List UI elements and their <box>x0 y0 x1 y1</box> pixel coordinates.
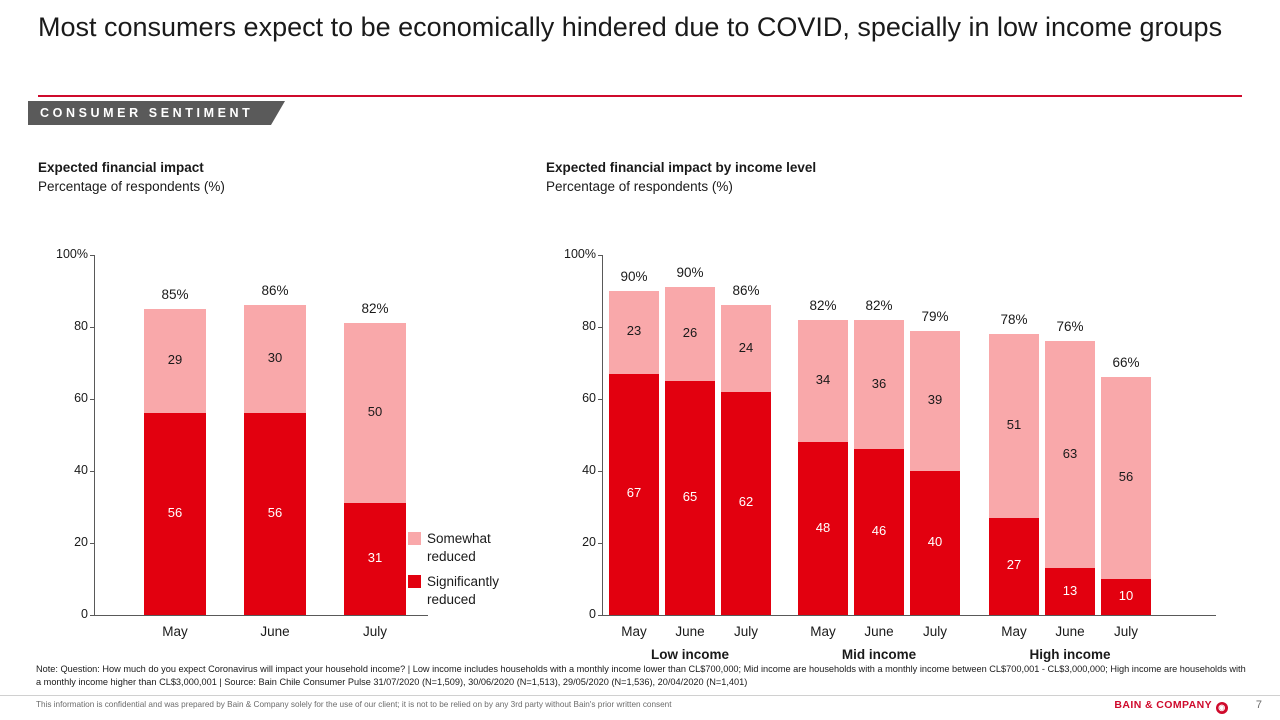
bar-segment-significantly-reduced: 40 <box>910 471 960 615</box>
bar-segment-somewhat-reduced: 26 <box>665 287 715 381</box>
y-axis-line <box>94 255 95 615</box>
y-axis-tick: 0 <box>552 607 596 621</box>
x-axis-group-label: Mid income <box>798 647 960 662</box>
legend-swatch-icon <box>408 532 421 545</box>
y-axis-tick: 40 <box>552 463 596 477</box>
y-axis-tick-mark <box>90 615 94 616</box>
bar-segment-value: 13 <box>1045 583 1095 598</box>
bar-segment-significantly-reduced: 56 <box>144 413 206 615</box>
y-axis-tick: 100% <box>44 247 88 261</box>
y-axis-tick: 20 <box>44 535 88 549</box>
y-axis-tick-mark <box>598 399 602 400</box>
bar-total-label: 82% <box>792 298 854 313</box>
x-axis-category-label: July <box>711 624 781 639</box>
x-axis-category-label: June <box>234 624 316 639</box>
bar-segment-value: 65 <box>665 489 715 504</box>
y-axis-tick: 20 <box>552 535 596 549</box>
left-chart-title: Expected financial impact <box>38 160 225 175</box>
section-kicker: CONSUMER SENTIMENT <box>28 101 271 125</box>
y-axis-line <box>602 255 603 615</box>
brand-logo: BAIN & COMPANY◉ <box>1114 699 1228 714</box>
right-bar-chart: 020406080100%672390%May652690%June622486… <box>546 248 1246 648</box>
bar-segment-value: 56 <box>244 505 306 520</box>
y-axis-tick: 100% <box>552 247 596 261</box>
bar-total-label: 82% <box>848 298 910 313</box>
bar-total-label: 85% <box>138 287 212 302</box>
bar-segment-significantly-reduced: 67 <box>609 374 659 615</box>
y-axis-tick-mark <box>90 471 94 472</box>
footnote: Note: Question: How much do you expect C… <box>36 663 1246 689</box>
y-axis-tick-mark <box>90 255 94 256</box>
x-axis-line <box>602 615 1216 616</box>
x-axis-category-label: July <box>1091 624 1161 639</box>
bar-segment-somewhat-reduced: 34 <box>798 320 848 442</box>
bar-segment-significantly-reduced: 46 <box>854 449 904 615</box>
right-chart-subtitle: Percentage of respondents (%) <box>546 179 816 194</box>
bar-segment-somewhat-reduced: 39 <box>910 331 960 471</box>
bar-segment-somewhat-reduced: 51 <box>989 334 1039 518</box>
bar-segment-value: 67 <box>609 485 659 500</box>
bar-segment-somewhat-reduced: 30 <box>244 305 306 413</box>
y-axis-tick: 80 <box>552 319 596 333</box>
bar-segment-somewhat-reduced: 56 <box>1101 377 1151 579</box>
bar-segment-value: 48 <box>798 520 848 535</box>
bar-segment-value: 29 <box>144 352 206 367</box>
bar-segment-value: 40 <box>910 534 960 549</box>
legend-item-label: Significantly reduced <box>427 573 528 609</box>
legend-item[interactable]: Somewhat reduced <box>408 530 528 566</box>
bar-segment-value: 56 <box>144 505 206 520</box>
bar-segment-value: 36 <box>854 376 904 391</box>
bar-total-label: 86% <box>238 283 312 298</box>
bar-total-label: 90% <box>659 265 721 280</box>
bar-segment-value: 10 <box>1101 588 1151 603</box>
y-axis-tick: 60 <box>552 391 596 405</box>
bar-segment-value: 24 <box>721 340 771 355</box>
bar-segment-value: 62 <box>721 494 771 509</box>
y-axis-tick: 80 <box>44 319 88 333</box>
bar-segment-significantly-reduced: 13 <box>1045 568 1095 615</box>
y-axis-tick-mark <box>598 255 602 256</box>
bar-segment-significantly-reduced: 10 <box>1101 579 1151 615</box>
bar-total-label: 76% <box>1039 319 1101 334</box>
bar-segment-significantly-reduced: 56 <box>244 413 306 615</box>
legend-item[interactable]: Significantly reduced <box>408 573 528 609</box>
y-axis-tick-mark <box>90 327 94 328</box>
bar-segment-significantly-reduced: 31 <box>344 503 406 615</box>
bar-segment-value: 34 <box>798 372 848 387</box>
y-axis-tick-mark <box>90 399 94 400</box>
bar-total-label: 78% <box>983 312 1045 327</box>
bar-total-label: 82% <box>338 301 412 316</box>
page-number: 7 <box>1256 699 1262 711</box>
x-axis-group-label: Low income <box>609 647 771 662</box>
y-axis-tick-mark <box>90 543 94 544</box>
bar-segment-somewhat-reduced: 36 <box>854 320 904 450</box>
bar-segment-value: 46 <box>854 523 904 538</box>
legend-swatch-icon <box>408 575 421 588</box>
bar-segment-value: 31 <box>344 550 406 565</box>
y-axis-tick-mark <box>598 543 602 544</box>
brand-mark-icon: ◉ <box>1216 702 1228 714</box>
bar-segment-significantly-reduced: 65 <box>665 381 715 615</box>
y-axis-tick-mark <box>598 471 602 472</box>
y-axis-tick: 0 <box>44 607 88 621</box>
page-title: Most consumers expect to be economically… <box>38 10 1238 44</box>
bar-segment-value: 27 <box>989 557 1039 572</box>
title-divider <box>38 95 1242 97</box>
bar-segment-value: 51 <box>989 417 1039 432</box>
bar-segment-value: 39 <box>910 392 960 407</box>
bar-segment-value: 23 <box>609 323 659 338</box>
bar-total-label: 86% <box>715 283 777 298</box>
bar-total-label: 79% <box>904 309 966 324</box>
x-axis-line <box>94 615 428 616</box>
x-axis-category-label: July <box>900 624 970 639</box>
confidentiality-notice: This information is confidential and was… <box>36 700 672 709</box>
bar-segment-somewhat-reduced: 63 <box>1045 341 1095 568</box>
bar-segment-value: 30 <box>244 350 306 365</box>
y-axis-tick-mark <box>598 615 602 616</box>
left-chart-subtitle: Percentage of respondents (%) <box>38 179 225 194</box>
left-chart-header: Expected financial impact Percentage of … <box>38 160 225 194</box>
x-axis-category-label: May <box>134 624 216 639</box>
right-chart-header: Expected financial impact by income leve… <box>546 160 816 194</box>
bar-segment-value: 56 <box>1101 469 1151 484</box>
footer-divider <box>0 695 1280 696</box>
bar-segment-value: 26 <box>665 325 715 340</box>
bar-segment-significantly-reduced: 62 <box>721 392 771 615</box>
bar-total-label: 90% <box>603 269 665 284</box>
legend-item-label: Somewhat reduced <box>427 530 528 566</box>
bar-segment-significantly-reduced: 48 <box>798 442 848 615</box>
chart-legend: Somewhat reducedSignificantly reduced <box>408 530 528 616</box>
y-axis-tick-mark <box>598 327 602 328</box>
section-kicker-label: CONSUMER SENTIMENT <box>28 101 271 125</box>
bar-segment-significantly-reduced: 27 <box>989 518 1039 615</box>
bar-segment-somewhat-reduced: 23 <box>609 291 659 374</box>
bar-segment-value: 63 <box>1045 446 1095 461</box>
y-axis-tick: 40 <box>44 463 88 477</box>
bar-segment-somewhat-reduced: 29 <box>144 309 206 413</box>
bar-total-label: 66% <box>1095 355 1157 370</box>
x-axis-category-label: July <box>334 624 416 639</box>
bar-segment-somewhat-reduced: 24 <box>721 305 771 391</box>
brand-name: BAIN & COMPANY <box>1114 699 1212 711</box>
x-axis-group-label: High income <box>989 647 1151 662</box>
left-bar-chart: 020406080100%562985%May563086%June315082… <box>38 248 458 648</box>
section-kicker-tail <box>271 101 285 125</box>
y-axis-tick: 60 <box>44 391 88 405</box>
bar-segment-value: 50 <box>344 404 406 419</box>
bar-segment-somewhat-reduced: 50 <box>344 323 406 503</box>
right-chart-title: Expected financial impact by income leve… <box>546 160 816 175</box>
